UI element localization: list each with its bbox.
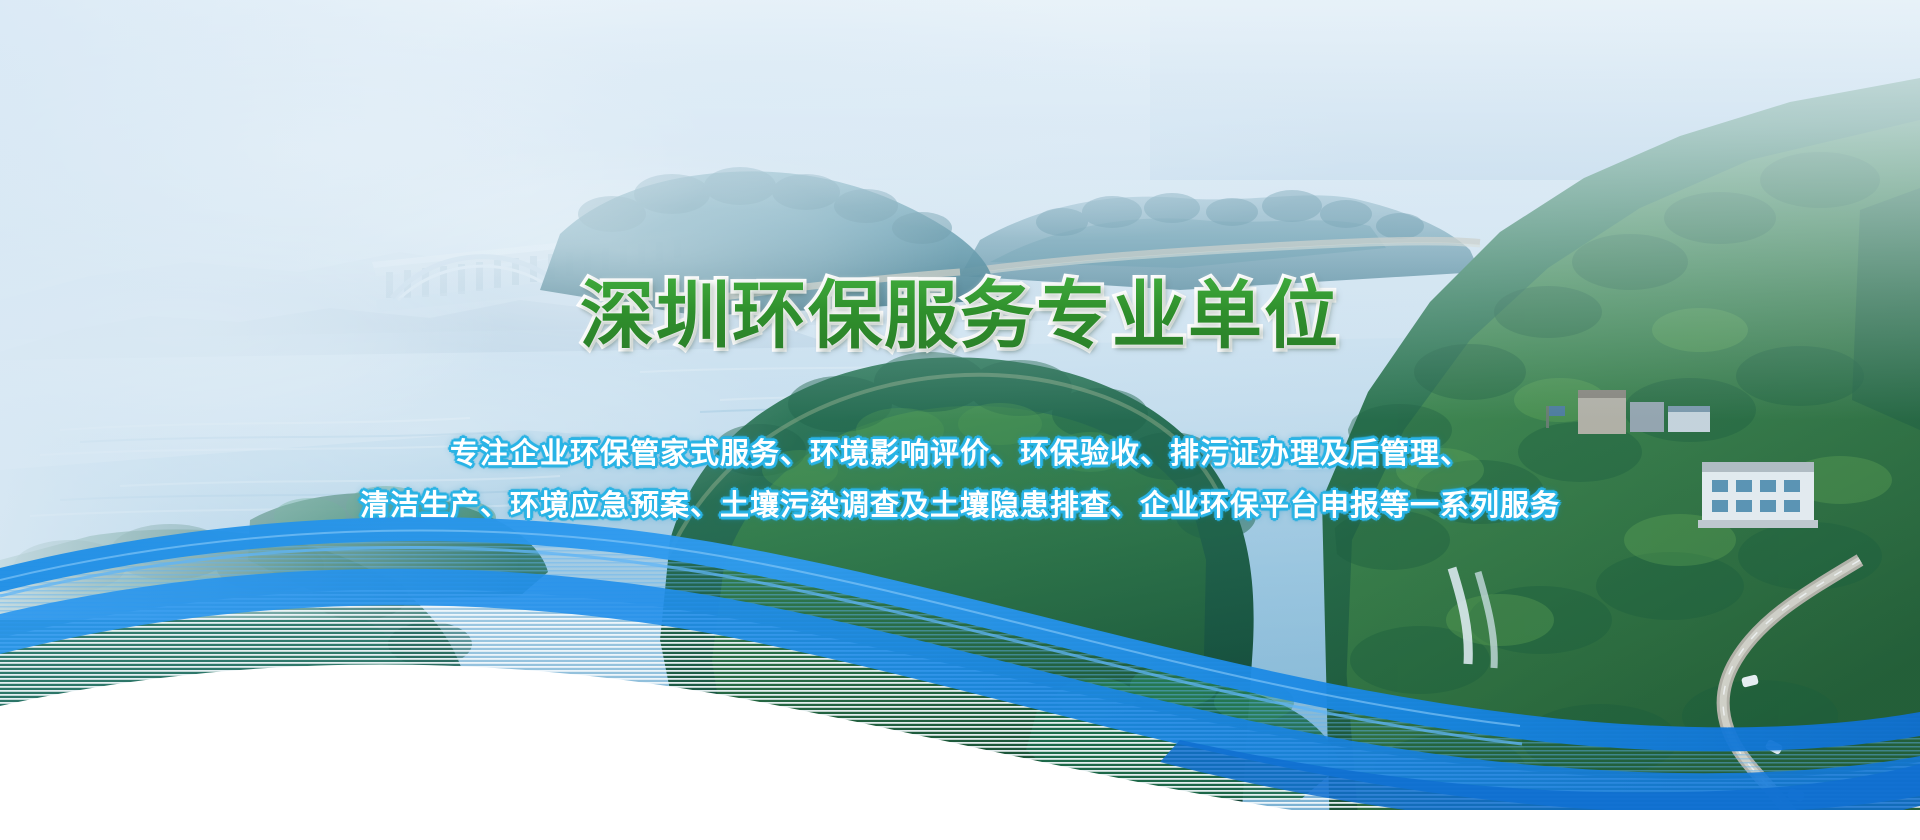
background-photo xyxy=(0,0,1920,840)
hero-banner: 深圳环保服务专业单位 深圳环保服务专业单位 专注企业环保管家式服务、环境影响评价… xyxy=(0,0,1920,840)
